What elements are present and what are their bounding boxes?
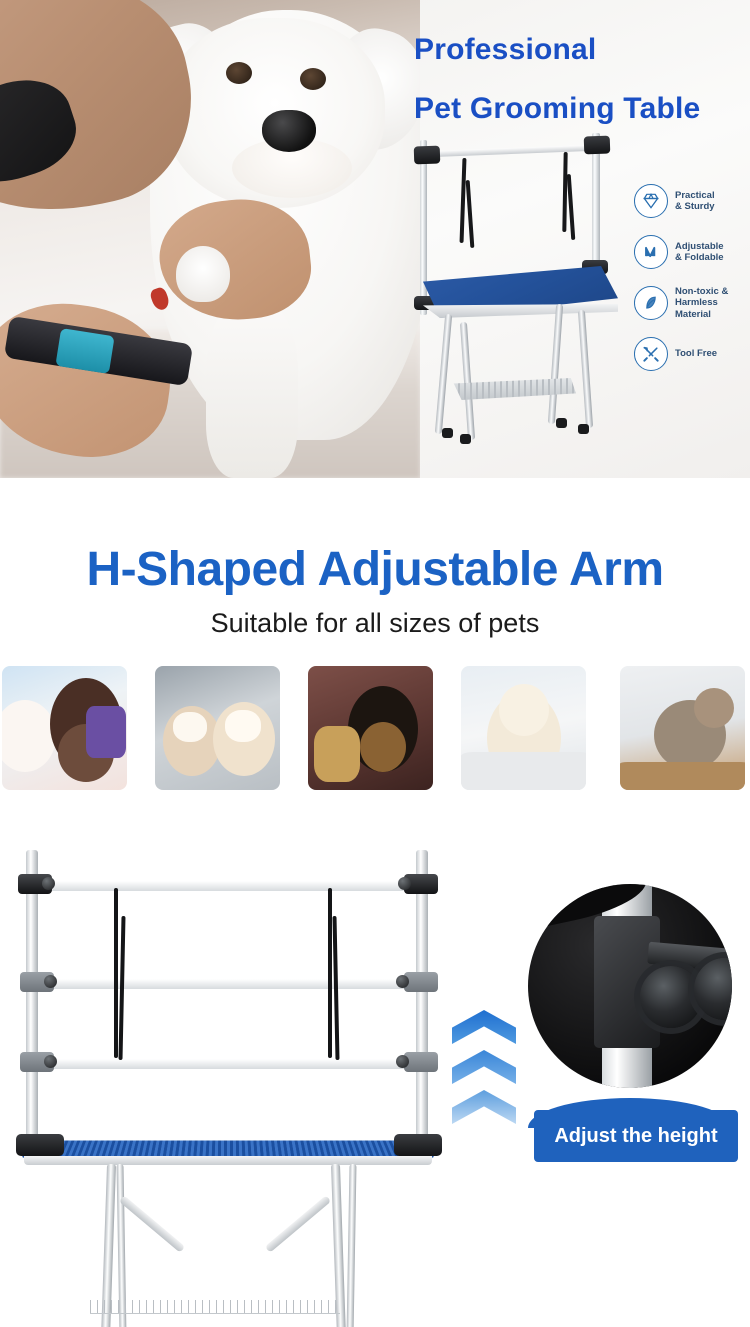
breed-thumb-chihuahua[interactable] xyxy=(2,666,127,790)
feature-line2: & Foldable xyxy=(675,252,724,263)
feature-label: Tool Free xyxy=(675,348,717,359)
feature-line2: & Sturdy xyxy=(675,201,715,212)
feature-item-adjustable-foldable: Adjustable & Foldable xyxy=(634,235,750,269)
crossed-tools-icon xyxy=(634,337,668,371)
hero-title-line2: Pet Grooming Table xyxy=(414,92,700,126)
up-chevrons xyxy=(452,1010,516,1130)
feature-line3: Material xyxy=(675,309,711,320)
adjust-height-banner: Adjust the height xyxy=(534,1110,738,1162)
hero-section: Professional Pet Grooming Table xyxy=(0,0,750,478)
feature-item-tool-free: Tool Free xyxy=(634,337,750,371)
feature-line1: Practical xyxy=(675,190,715,201)
section3-adjustable-arm-diagram: Adjust the height xyxy=(0,820,750,1327)
feature-label: Adjustable & Foldable xyxy=(675,241,724,263)
breed-thumb-cat[interactable] xyxy=(620,666,745,790)
hero-product-illustration xyxy=(406,128,646,450)
feature-line1: Non-toxic & xyxy=(675,286,728,297)
feature-item-practical-sturdy: Practical & Sturdy xyxy=(634,184,750,218)
feature-label: Non-toxic & Harmless Material xyxy=(675,286,728,320)
leaf-icon xyxy=(634,286,668,320)
feature-line1: Adjustable xyxy=(675,241,724,252)
breed-thumbnail-row: Chihuahua Pomeranian Dachshund xyxy=(0,666,750,806)
h-arm-diagram xyxy=(8,850,448,1150)
feature-item-non-toxic-material: Non-toxic & Harmless Material xyxy=(634,286,750,320)
folding-ruler-icon xyxy=(634,235,668,269)
feature-line1: Tool Free xyxy=(675,348,717,359)
section2-subtitle: Suitable for all sizes of pets xyxy=(0,608,750,639)
section2-title: H-Shaped Adjustable Arm xyxy=(0,542,750,597)
clamp-knob-detail-inset xyxy=(528,884,732,1088)
feature-line2: Harmless xyxy=(675,297,718,308)
hero-title-line1: Professional xyxy=(414,33,596,67)
feature-label: Practical & Sturdy xyxy=(675,190,715,212)
lower-shelf-wire xyxy=(90,1300,340,1314)
breed-thumb-dachshund[interactable] xyxy=(308,666,433,790)
chevron-up-icon xyxy=(452,1010,516,1044)
chevron-up-icon xyxy=(452,1050,516,1084)
chevron-up-icon xyxy=(452,1090,516,1124)
diamond-icon xyxy=(634,184,668,218)
feature-list: Practical & Sturdy Adjustable & Foldable xyxy=(634,184,750,388)
breed-thumb-pomeranian[interactable] xyxy=(155,666,280,790)
product-marketing-page: Professional Pet Grooming Table xyxy=(0,0,750,1327)
breed-thumb-golden-retriever[interactable] xyxy=(461,666,586,790)
hero-photo-groomer xyxy=(0,0,420,478)
